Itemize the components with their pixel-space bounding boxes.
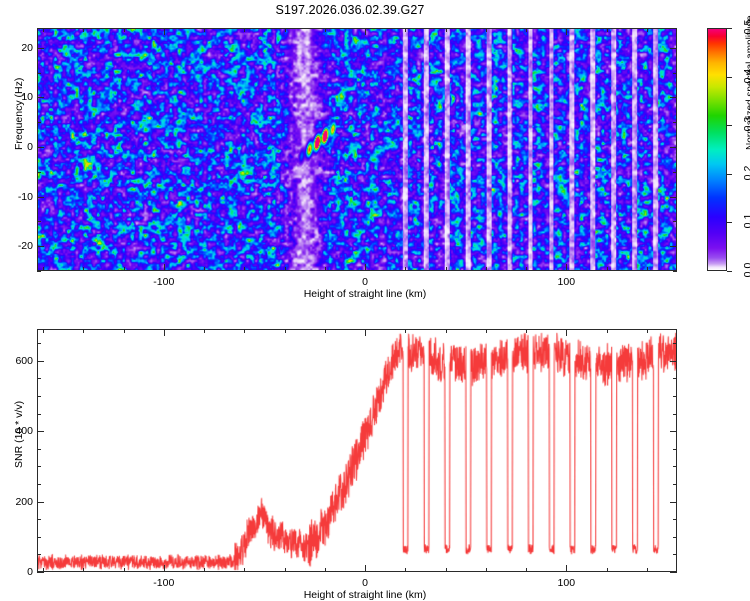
axis-tick — [486, 568, 487, 572]
axis-tick — [673, 414, 677, 415]
axis-tick — [285, 267, 286, 271]
axis-tick — [526, 28, 527, 32]
axis-tick — [37, 502, 44, 503]
axis-tick — [566, 565, 567, 572]
axis-tick — [673, 449, 677, 450]
axis-tick-label: 100 — [558, 577, 576, 589]
axis-tick — [285, 329, 286, 333]
axis-tick — [673, 221, 677, 222]
axis-tick — [37, 484, 41, 485]
axis-tick — [647, 28, 648, 32]
axis-tick — [670, 572, 677, 573]
axis-tick — [365, 329, 366, 336]
colorbar-tick — [727, 28, 732, 29]
axis-tick — [673, 484, 677, 485]
axis-tick — [37, 147, 44, 148]
axis-tick — [244, 267, 245, 271]
spectrogram-image — [38, 29, 676, 270]
colorbar-tick — [727, 271, 732, 272]
axis-tick — [405, 329, 406, 333]
axis-tick — [486, 28, 487, 32]
axis-tick-label: -20 — [9, 240, 33, 252]
colorbar-tick-label: 0.1 — [742, 206, 750, 236]
figure-root: S197.2026.036.02.39.G27 -1000100-20-1001… — [0, 0, 750, 600]
axis-tick — [405, 568, 406, 572]
axis-tick-label: 0 — [362, 577, 368, 589]
axis-tick — [37, 554, 41, 555]
axis-tick — [647, 267, 648, 271]
axis-tick-label: 20 — [9, 42, 33, 54]
axis-tick — [670, 97, 677, 98]
axis-tick — [673, 554, 677, 555]
axis-tick — [673, 122, 677, 123]
snr-line-plot — [38, 330, 676, 571]
colorbar-tick-label: 0.0 — [742, 255, 750, 285]
axis-tick — [566, 329, 567, 336]
axis-tick — [37, 466, 41, 467]
axis-tick — [446, 28, 447, 32]
axis-tick — [164, 28, 165, 35]
axis-tick — [325, 267, 326, 271]
axis-tick — [486, 267, 487, 271]
axis-tick — [325, 329, 326, 333]
axis-tick — [673, 537, 677, 538]
axis-tick — [486, 329, 487, 333]
axis-tick — [37, 48, 44, 49]
axis-tick — [673, 519, 677, 520]
axis-tick-label: -100 — [153, 276, 174, 288]
axis-tick — [83, 28, 84, 32]
axis-tick — [446, 568, 447, 572]
snr-y-axis-title: SNR (10 * v/v) — [13, 401, 25, 468]
axis-tick — [673, 73, 677, 74]
axis-tick-label: 200 — [9, 496, 33, 508]
axis-tick — [124, 267, 125, 271]
axis-tick — [204, 568, 205, 572]
axis-tick — [446, 329, 447, 333]
colorbar-tick — [727, 222, 732, 223]
axis-tick-label: 0 — [9, 566, 33, 578]
axis-tick — [37, 122, 41, 123]
axis-tick — [124, 28, 125, 32]
colorbar-tick — [727, 174, 732, 175]
axis-tick — [566, 28, 567, 35]
colorbar — [707, 28, 727, 271]
colorbar-tick — [727, 77, 732, 78]
axis-tick — [204, 267, 205, 271]
axis-tick — [37, 246, 44, 247]
axis-tick — [37, 221, 41, 222]
colorbar-label: Normalized spectral amplitude — [745, 15, 750, 150]
axis-tick — [37, 414, 41, 415]
axis-tick — [673, 271, 677, 272]
axis-tick — [244, 28, 245, 32]
page-title: S197.2026.036.02.39.G27 — [0, 3, 700, 17]
axis-tick — [670, 361, 677, 362]
axis-tick — [43, 267, 44, 271]
axis-tick — [285, 28, 286, 32]
axis-tick — [405, 28, 406, 32]
axis-tick — [37, 197, 44, 198]
colorbar-tick-label: 0.2 — [742, 158, 750, 188]
colorbar-tick — [727, 125, 732, 126]
axis-tick — [670, 502, 677, 503]
snr-axes — [37, 329, 677, 572]
axis-tick — [124, 568, 125, 572]
axis-tick — [670, 246, 677, 247]
axis-tick — [607, 267, 608, 271]
axis-tick — [607, 28, 608, 32]
axis-tick — [325, 568, 326, 572]
axis-tick-label: 600 — [9, 355, 33, 367]
axis-tick-label: -100 — [153, 577, 174, 589]
axis-tick — [670, 48, 677, 49]
axis-tick — [204, 28, 205, 32]
axis-tick — [526, 267, 527, 271]
axis-tick — [365, 28, 366, 35]
axis-tick — [37, 172, 41, 173]
axis-tick — [37, 431, 44, 432]
axis-tick — [37, 361, 44, 362]
axis-tick-label: 100 — [558, 276, 576, 288]
axis-tick — [37, 519, 41, 520]
axis-tick — [37, 396, 41, 397]
axis-tick — [526, 329, 527, 333]
colorbar-gradient — [708, 29, 726, 270]
spectrogram-x-axis-title: Height of straight line (km) — [304, 288, 427, 300]
snr-x-axis-title: Height of straight line (km) — [304, 589, 427, 601]
axis-tick — [37, 449, 41, 450]
axis-tick — [607, 329, 608, 333]
axis-tick — [670, 431, 677, 432]
axis-tick — [670, 197, 677, 198]
axis-tick — [37, 537, 41, 538]
axis-tick — [37, 73, 41, 74]
axis-tick — [607, 568, 608, 572]
axis-tick — [647, 329, 648, 333]
axis-tick — [43, 28, 44, 32]
axis-tick — [673, 343, 677, 344]
axis-tick — [83, 329, 84, 333]
axis-tick — [285, 568, 286, 572]
axis-tick — [526, 568, 527, 572]
axis-tick — [244, 568, 245, 572]
axis-tick — [37, 343, 41, 344]
axis-tick — [164, 565, 165, 572]
axis-tick — [164, 329, 165, 336]
axis-tick — [204, 329, 205, 333]
axis-tick — [244, 329, 245, 333]
axis-tick — [673, 396, 677, 397]
spectrogram-y-axis-title: Frequency (Hz) — [13, 78, 25, 150]
axis-tick — [673, 466, 677, 467]
axis-tick — [37, 378, 41, 379]
axis-tick — [405, 267, 406, 271]
axis-tick-label: -10 — [9, 191, 33, 203]
axis-tick — [673, 378, 677, 379]
axis-tick — [365, 264, 366, 271]
axis-tick — [164, 264, 165, 271]
axis-tick — [670, 147, 677, 148]
axis-tick-label: 0 — [362, 276, 368, 288]
axis-tick — [446, 267, 447, 271]
axis-tick — [83, 568, 84, 572]
axis-tick — [647, 568, 648, 572]
axis-tick — [325, 28, 326, 32]
spectrogram-axes — [37, 28, 677, 271]
axis-tick — [37, 97, 44, 98]
axis-tick — [83, 267, 84, 271]
axis-tick — [566, 264, 567, 271]
axis-tick — [43, 329, 44, 333]
axis-tick — [673, 172, 677, 173]
axis-tick — [124, 329, 125, 333]
axis-tick — [37, 271, 41, 272]
axis-tick — [365, 565, 366, 572]
axis-tick — [37, 572, 44, 573]
